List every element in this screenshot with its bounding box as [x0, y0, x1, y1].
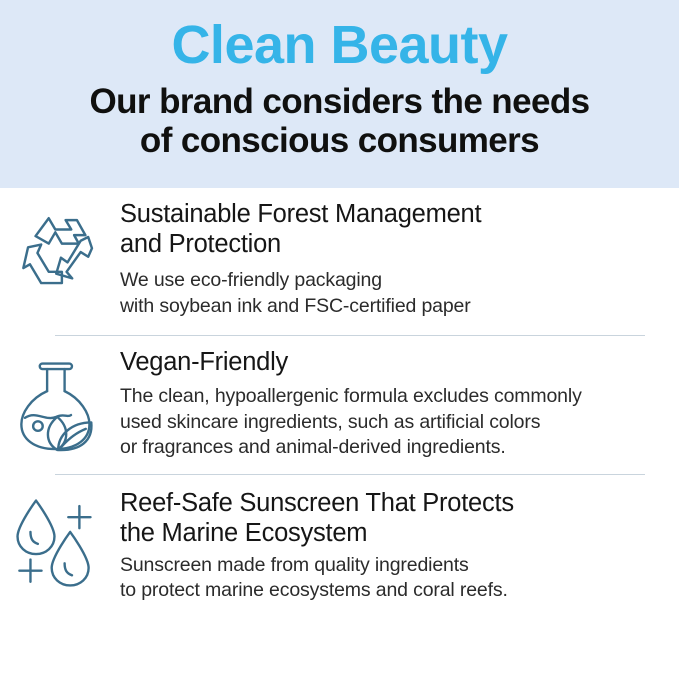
feature-content: Vegan-Friendly The clean, hypoallergenic…	[120, 348, 679, 461]
feature-content: Sustainable Forest Management and Protec…	[120, 200, 679, 319]
page-subtitle: Our brand considers the needs of conscio…	[0, 82, 679, 160]
feature-icon-slot	[0, 200, 120, 300]
page-title: Clean Beauty	[0, 18, 679, 72]
feature-content: Reef-Safe Sunscreen That Protects the Ma…	[120, 489, 679, 603]
feature-item-sustainable-forest: Sustainable Forest Management and Protec…	[0, 188, 679, 319]
feature-heading-line-2: and Protection	[120, 230, 281, 258]
feature-heading-line-1: Reef-Safe Sunscreen That Protects	[120, 489, 514, 517]
feature-description-line-1: Sunscreen made from quality ingredients	[120, 553, 661, 578]
feature-item-vegan-friendly: Vegan-Friendly The clean, hypoallergenic…	[0, 336, 679, 461]
clean-beauty-infographic: Clean Beauty Our brand considers the nee…	[0, 0, 679, 679]
feature-description-line-2: with soybean ink and FSC-certified paper	[120, 294, 661, 319]
feature-description-line-2: to protect marine ecosystems and coral r…	[120, 578, 661, 603]
feature-icon-slot	[0, 348, 120, 454]
water-droplets-plus-icon	[12, 495, 108, 591]
feature-heading: Reef-Safe Sunscreen That Protects the Ma…	[120, 489, 661, 548]
feature-heading-line-2: the Marine Ecosystem	[120, 519, 367, 547]
feature-description-line-2: used skincare ingredients, such as artif…	[120, 410, 671, 435]
feature-heading-line-1: Vegan-Friendly	[120, 348, 288, 376]
feature-description: We use eco-friendly packaging with soybe…	[120, 268, 661, 319]
feature-description-line-3: or fragrances and animal-derived ingredi…	[120, 435, 671, 460]
flask-leaf-icon	[14, 354, 106, 454]
feature-list: Sustainable Forest Management and Protec…	[0, 188, 679, 603]
feature-description-line-1: The clean, hypoallergenic formula exclud…	[120, 384, 671, 409]
feature-heading: Vegan-Friendly	[120, 348, 671, 378]
header-banner: Clean Beauty Our brand considers the nee…	[0, 0, 679, 188]
feature-heading-line-1: Sustainable Forest Management	[120, 200, 481, 228]
feature-item-reef-safe-sunscreen: Reef-Safe Sunscreen That Protects the Ma…	[0, 475, 679, 603]
feature-icon-slot	[0, 489, 120, 591]
feature-description: Sunscreen made from quality ingredients …	[120, 553, 661, 604]
recycle-icon	[13, 206, 107, 300]
feature-description: The clean, hypoallergenic formula exclud…	[120, 384, 671, 460]
feature-heading: Sustainable Forest Management and Protec…	[120, 200, 661, 259]
page-subtitle-line-2: of conscious consumers	[0, 121, 679, 160]
feature-description-line-1: We use eco-friendly packaging	[120, 268, 661, 293]
page-subtitle-line-1: Our brand considers the needs	[0, 82, 679, 121]
